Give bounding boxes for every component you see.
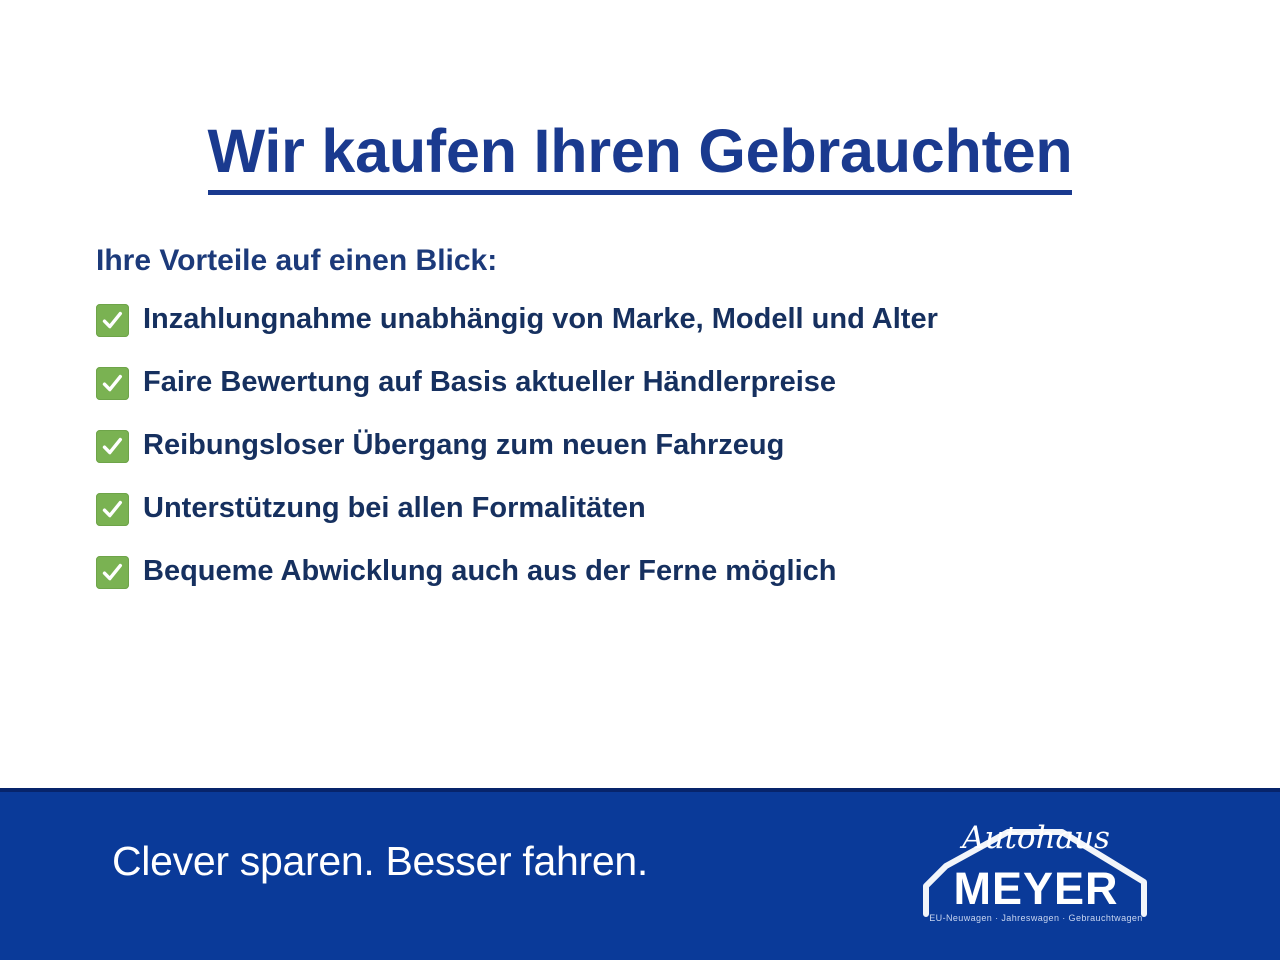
benefits-heading: Ihre Vorteile auf einen Blick: xyxy=(96,243,1226,279)
list-item: Inzahlungnahme unabhängig von Marke, Mod… xyxy=(96,303,1226,337)
page-title: Wir kaufen Ihren Gebrauchten xyxy=(208,119,1073,195)
check-box-icon xyxy=(96,430,129,463)
footer-bar: Clever sparen. Besser fahren. Autohaus M… xyxy=(0,788,1280,960)
benefit-label: Inzahlungnahme unabhängig von Marke, Mod… xyxy=(143,304,938,336)
list-item: Reibungsloser Übergang zum neuen Fahrzeu… xyxy=(96,429,1226,463)
dealer-logo: Autohaus MEYER EU-Neuwagen · Jahreswagen… xyxy=(912,810,1162,932)
footer-inner: Clever sparen. Besser fahren. Autohaus M… xyxy=(0,792,1280,960)
benefits-section: Ihre Vorteile auf einen Blick: Inzahlung… xyxy=(96,243,1226,618)
list-item: Unterstützung bei allen Formalitäten xyxy=(96,492,1226,526)
promo-slide: Wir kaufen Ihren Gebrauchten Ihre Vortei… xyxy=(0,0,1280,960)
logo-word-text: MEYER xyxy=(953,863,1118,914)
title-block: Wir kaufen Ihren Gebrauchten xyxy=(0,78,1280,236)
benefit-label: Unterstützung bei allen Formalitäten xyxy=(143,493,646,525)
benefit-list: Inzahlungnahme unabhängig von Marke, Mod… xyxy=(96,303,1226,589)
check-box-icon xyxy=(96,556,129,589)
logo-script-text: Autohaus xyxy=(959,820,1110,856)
list-item: Faire Bewertung auf Basis aktueller Händ… xyxy=(96,366,1226,400)
footer-slogan: Clever sparen. Besser fahren. xyxy=(112,838,648,885)
check-box-icon xyxy=(96,493,129,526)
benefit-label: Bequeme Abwicklung auch aus der Ferne mö… xyxy=(143,556,836,588)
check-box-icon xyxy=(96,304,129,337)
logo-tagline-text: EU-Neuwagen · Jahreswagen · Gebrauchtwag… xyxy=(929,913,1142,923)
benefit-label: Faire Bewertung auf Basis aktueller Händ… xyxy=(143,367,836,399)
benefit-label: Reibungsloser Übergang zum neuen Fahrzeu… xyxy=(143,430,784,462)
check-box-icon xyxy=(96,367,129,400)
list-item: Bequeme Abwicklung auch aus der Ferne mö… xyxy=(96,555,1226,589)
